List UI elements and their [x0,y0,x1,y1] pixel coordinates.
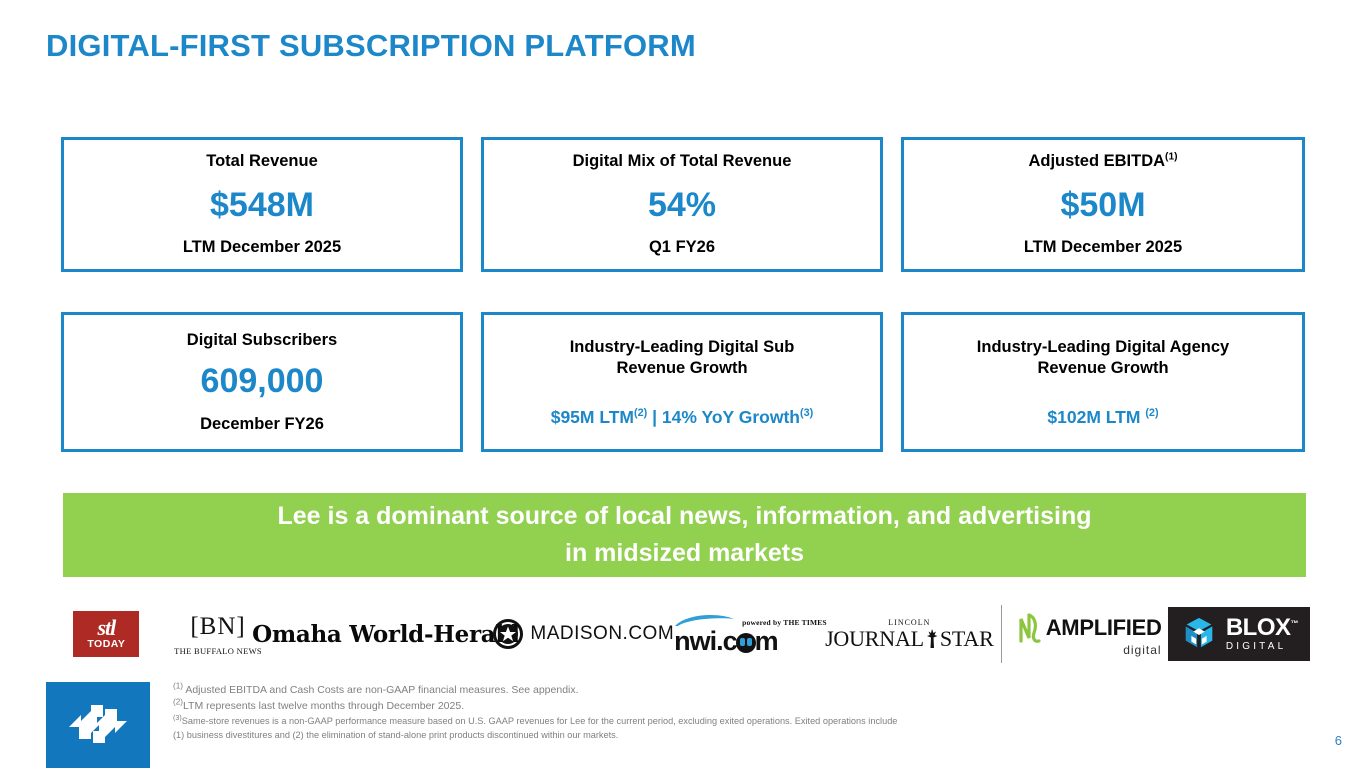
brand-logo-strip: stl TODAY [BN] THE BUFFALO NEWS Omaha Wo… [55,596,1310,672]
metric-title-line1: Industry-Leading Digital Agency [977,337,1229,359]
metric-card-digital-sub-revenue-growth: Industry-Leading Digital Sub Revenue Gro… [481,312,883,452]
footnote-text: Adjusted EBITDA and Cash Costs are non-G… [185,684,578,696]
logo-madison-com: MADISON.COM [493,596,674,672]
blox-digital-subtext: DIGITAL [1226,642,1298,652]
star-circle-icon [493,619,523,649]
ljs-wordmark: JOURNALSTAR [825,627,994,650]
swoosh-icon [674,613,736,627]
metric-title: Digital Mix of Total Revenue [573,151,792,173]
footnote-3: (3)Same-store revenues is a non-GAAP per… [173,714,1263,728]
amplified-wordmark: AMPLIFIED [1046,615,1162,641]
logo-lincoln-journal-star: LINCOLN JOURNALSTAR [827,596,992,672]
page-title: DIGITAL-FIRST SUBSCRIPTION PLATFORM [46,28,696,64]
banner-line1: Lee is a dominant source of local news, … [277,498,1091,535]
page-number: 6 [1335,733,1342,748]
metric-value: $50M [1060,187,1145,224]
blox-cube-icon [1180,615,1218,653]
amplified-digital-subtext: digital [1018,643,1162,657]
omaha-world-herald-wordmark: Omaha World-Herald [252,621,520,648]
footnote-1: (1) Adjusted EBITDA and Cash Costs are n… [173,683,1263,699]
metric-subtitle: LTM December 2025 [183,238,341,258]
logo-omaha-world-herald: Omaha World-Herald [278,596,493,672]
metric-card-adjusted-ebitda: Adjusted EBITDA(1) $50M LTM December 202… [901,137,1305,272]
metric-title: Adjusted EBITDA(1) [1028,151,1177,173]
footnote-marker: (3) [173,714,182,722]
footnote-ref: (1) [1165,152,1178,163]
madison-com-wordmark: MADISON.COM [530,623,674,645]
footnote-ref: (3) [800,407,813,419]
torch-figure-icon [924,628,940,650]
nwi-com-wordmark: nwi.cm [674,627,827,655]
stltoday-icon: stl TODAY [73,611,139,657]
highlight-banner: Lee is a dominant source of local news, … [63,493,1306,577]
metric-card-digital-agency-revenue-growth: Industry-Leading Digital Agency Revenue … [901,312,1305,452]
metric-value: $95M LTM(2) | 14% YoY Growth(3) [551,408,814,427]
stltoday-today-text: TODAY [87,639,125,650]
metric-card-total-revenue: Total Revenue $548M LTM December 2025 [61,137,463,272]
logo-blox-digital: BLOX™ DIGITAL [1168,596,1310,672]
footnote-marker: (2) [173,697,183,706]
buffalo-news-wordmark: THE BUFFALO NEWS [174,646,262,656]
footnote-text: Same-store revenues is a non-GAAP perfor… [182,716,898,726]
madison-com-icon: MADISON.COM [493,619,674,649]
vertical-divider [1001,605,1002,663]
footnote-3-cont: (1) business divestitures and (2) the el… [173,728,1263,742]
blox-wordmark: BLOX™ [1226,616,1298,640]
metric-card-digital-mix: Digital Mix of Total Revenue 54% Q1 FY26 [481,137,883,272]
footnotes-block: (1) Adjusted EBITDA and Cash Costs are n… [173,683,1263,742]
metric-card-digital-subscribers: Digital Subscribers 609,000 December FY2… [61,312,463,452]
lee-mark-icon [67,703,129,747]
logo-stltoday: stl TODAY [55,596,158,672]
footnote-text: (1) business divestitures and (2) the el… [173,730,618,740]
metric-title-line2: Revenue Growth [570,358,795,380]
footnote-ref: (2) [634,407,647,419]
nwi-com-icon: powered by THE TIMES nwi.cm [674,613,827,655]
metric-value: 54% [648,187,716,224]
metric-title: Industry-Leading Digital Agency Revenue … [977,337,1229,381]
metric-title-line1: Industry-Leading Digital Sub [570,337,795,359]
footnote-ref: (2) [1145,407,1158,419]
waveform-icon [1018,611,1044,645]
metric-title: Total Revenue [206,151,318,173]
banner-text: Lee is a dominant source of local news, … [277,498,1091,572]
logo-amplified-digital: AMPLIFIED digital [1011,596,1167,672]
slide-canvas: DIGITAL-FIRST SUBSCRIPTION PLATFORM Tota… [0,0,1365,768]
trademark-symbol: ™ [1291,619,1299,628]
blox-digital-icon: BLOX™ DIGITAL [1168,607,1310,661]
banner-line2: in midsized markets [277,535,1091,572]
buffalo-news-monogram: [BN] [174,612,262,642]
lincoln-journal-star-icon: LINCOLN JOURNALSTAR [825,618,994,650]
metric-title: Industry-Leading Digital Sub Revenue Gro… [570,337,795,381]
blox-wordmark-group: BLOX™ DIGITAL [1226,616,1298,652]
footnote-text: LTM represents last twelve months throug… [183,700,464,712]
stltoday-wordmark: stl [97,618,115,638]
logo-nwi-com: powered by THE TIMES nwi.cm [674,596,827,672]
footnote-marker: (1) [173,682,183,691]
globe-o-icon [736,633,756,653]
amplified-digital-icon: AMPLIFIED digital [1018,611,1162,657]
metric-value: $102M LTM (2) [1047,408,1158,427]
metric-value: 609,000 [201,363,324,400]
logo-divider [992,596,1012,672]
lee-enterprises-logo [46,682,150,768]
metric-subtitle: LTM December 2025 [1024,238,1182,258]
metric-value: $548M [210,187,314,224]
buffalo-news-icon: [BN] THE BUFFALO NEWS [174,612,262,656]
metric-subtitle: Q1 FY26 [649,238,715,258]
metric-subtitle: December FY26 [200,415,324,435]
metric-title: Digital Subscribers [187,330,337,352]
footnote-2: (2)LTM represents last twelve months thr… [173,699,1263,715]
metric-title-line2: Revenue Growth [977,358,1229,380]
